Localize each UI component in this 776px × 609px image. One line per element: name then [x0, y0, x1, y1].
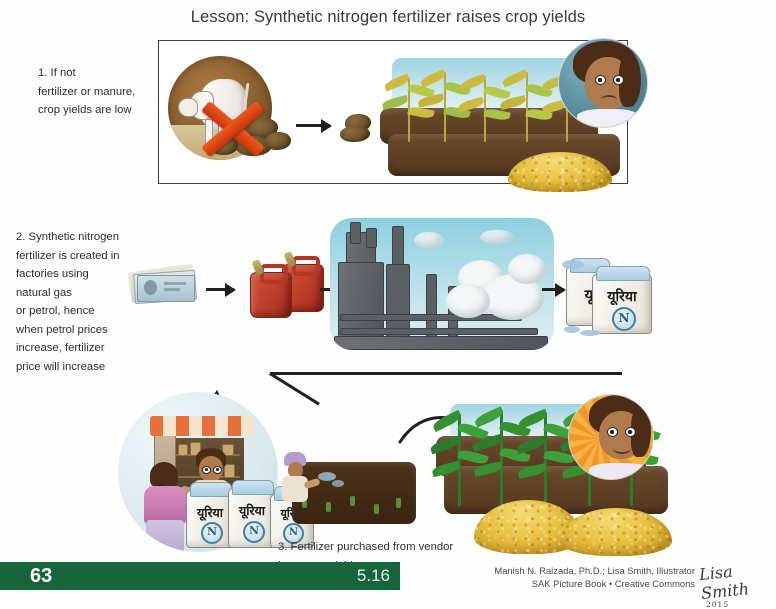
customer-figure — [140, 462, 190, 552]
farmer-shirt — [589, 463, 649, 479]
credit-line-1: Manish N. Raizada, Ph.D.; Lisa Smith, Il… — [430, 564, 695, 577]
urea-bag: यूरिया N — [186, 490, 234, 548]
urea-granule-spill — [564, 326, 580, 333]
urea-bag: यूरिया N — [592, 274, 652, 334]
large-grain-pile — [560, 508, 672, 556]
page-footer: 63 5.16 Manish N. Raizada, Ph.D.; Lisa S… — [0, 562, 776, 590]
cloud — [414, 232, 444, 248]
urea-bag-label: यूरिया — [229, 502, 275, 519]
section-number: 5.16 — [330, 566, 390, 586]
farmer-spreading-fertilizer — [276, 452, 316, 514]
cloud — [480, 230, 514, 244]
urea-bag-top — [190, 482, 232, 497]
arrow-manure — [296, 124, 330, 127]
shop-awning — [150, 416, 254, 436]
arrow-money-to-fuel — [206, 288, 234, 291]
urea-bag-label: यूरिया — [187, 504, 233, 521]
page-title: Lesson: Synthetic nitrogen fertilizer ra… — [0, 8, 776, 27]
factory-stack — [366, 228, 377, 248]
farmer-mouth-frown — [601, 95, 617, 104]
farmer-eye — [625, 427, 636, 437]
illustrator-signature: Lisa Smith 2015 — [700, 562, 760, 592]
farmer-eye — [613, 75, 624, 85]
sad-farmer-portrait — [558, 38, 648, 128]
credit-line-2: SAK Picture Book • Creative Commons — [430, 577, 695, 590]
farmer-shirt — [577, 109, 639, 127]
farmer-eye — [607, 427, 618, 437]
happy-farmer-portrait — [568, 394, 654, 480]
broadcast-granules — [318, 472, 336, 481]
fuel-can-handle — [292, 256, 320, 276]
page-number: 63 — [30, 565, 52, 588]
factory-stack — [350, 222, 361, 244]
broadcast-granules — [332, 480, 344, 487]
factory-pipe-run — [340, 328, 538, 335]
fertilizer-factory — [330, 218, 554, 350]
step-1-caption: 1. If not fertilizer or manure, crop yie… — [38, 64, 168, 120]
step-2-caption: 2. Synthetic nitrogen fertilizer is crea… — [16, 228, 144, 376]
nitrogen-badge: N — [612, 307, 636, 331]
factory-base — [334, 336, 548, 350]
farmer-mouth-smile — [613, 443, 631, 454]
farmer-eye — [595, 75, 606, 85]
urea-granule-spill — [562, 260, 584, 269]
picture-book-page: Lesson: Synthetic nitrogen fertilizer ra… — [0, 0, 776, 600]
arrow-factory-to-urea — [542, 288, 564, 291]
smoke-plume — [508, 254, 546, 284]
cow-head — [178, 98, 198, 118]
urea-bag: यूरिया N — [228, 488, 276, 548]
urea-bag-label: यूरिया — [593, 287, 651, 306]
credits: Manish N. Raizada, Ph.D.; Lisa Smith, Il… — [430, 564, 695, 590]
signature-name: Lisa Smith — [698, 559, 762, 603]
banknotes — [130, 262, 200, 306]
urea-bags-output: यू यूरिया N — [562, 244, 658, 336]
nitrogen-badge: N — [201, 522, 223, 544]
urea-bag-top — [596, 266, 649, 281]
smoke-plume — [446, 284, 490, 318]
nitrogen-badge: N — [243, 521, 265, 543]
urea-bag-top — [232, 480, 274, 495]
urea-granule-spill — [580, 330, 600, 336]
red-x-mark — [200, 100, 266, 158]
fuel-can-handle — [260, 264, 288, 284]
fuel-cans — [246, 254, 326, 316]
arrow-urea-to-vendor — [218, 362, 622, 396]
